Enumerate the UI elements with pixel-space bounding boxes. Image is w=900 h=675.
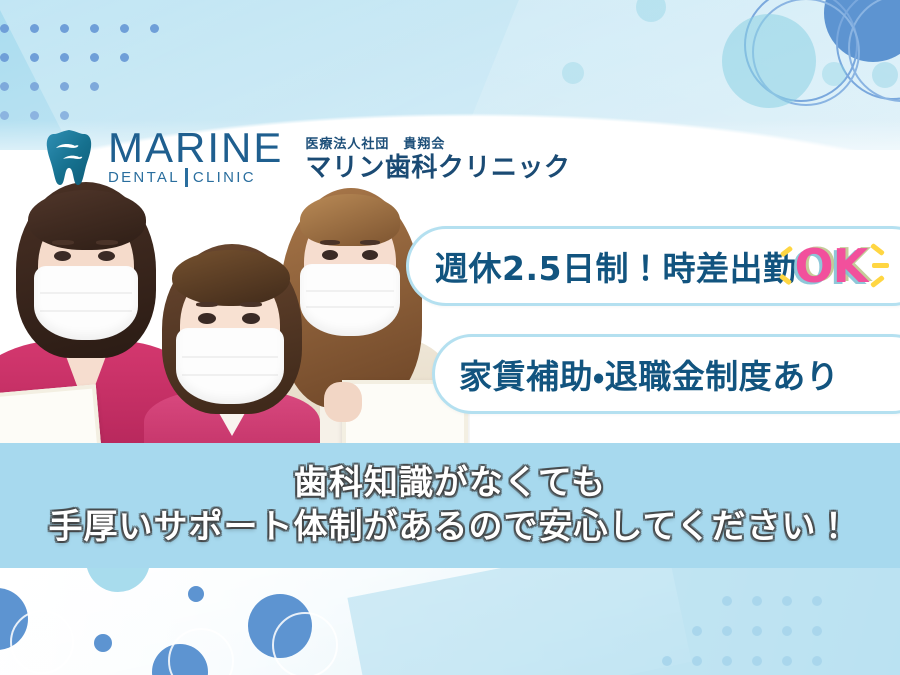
banner-line-1: 歯科知識がなくても bbox=[294, 462, 606, 506]
staff-left-face-mask bbox=[34, 266, 138, 340]
staff-center-face-mask bbox=[176, 328, 284, 404]
dot-grid-bottom-right bbox=[722, 588, 900, 675]
badge-benefits[interactable]: 家賃補助・退職金制度あり bbox=[432, 334, 900, 414]
logo-corporation: 医療法人社団 貴翔会 bbox=[305, 133, 570, 152]
message-banner: 歯科知識がなくても 手厚いサポート体制があるので安心してください！ bbox=[0, 443, 900, 568]
staff-member-center bbox=[146, 242, 316, 450]
staff-left-clipboard bbox=[0, 384, 104, 450]
logo-brand-sub-left: DENTAL bbox=[108, 170, 180, 185]
recruitment-poster: MARINE DENTAL CLINIC 医療法人社団 貴翔会 マリン歯科クリニ… bbox=[0, 0, 900, 675]
staff-photo bbox=[0, 150, 470, 450]
logo-japanese-block: 医療法人社団 貴翔会 マリン歯科クリニック bbox=[305, 129, 570, 181]
staff-right-hand bbox=[324, 382, 362, 422]
logo-brand-main: MARINE bbox=[108, 129, 283, 168]
ok-spark-right-top bbox=[870, 243, 885, 256]
decorative-dot-bottom-center-small bbox=[188, 586, 204, 602]
logo-latin-block: MARINE DENTAL CLINIC bbox=[108, 129, 283, 188]
staff-center-hair-front bbox=[172, 250, 290, 306]
logo-clinic-name: マリン歯科クリニック bbox=[305, 155, 570, 181]
ok-spark-right-bot bbox=[870, 275, 885, 288]
decorative-ring-bottom-mid bbox=[272, 612, 338, 675]
ok-stamp: OK bbox=[794, 243, 867, 289]
ok-label: OK bbox=[794, 243, 867, 289]
bottom-decoration-field bbox=[0, 568, 900, 675]
badge-shift[interactable]: 週休2.5日制！時差出勤 OK bbox=[406, 226, 900, 306]
staff-left-hair-front bbox=[28, 190, 146, 250]
logo-divider bbox=[185, 168, 188, 187]
decorative-dot-bottom-left bbox=[94, 634, 112, 652]
badge-benefits-text: 家賃補助・退職金制度あり bbox=[435, 350, 839, 398]
decorative-ring-bottom-left bbox=[10, 610, 74, 674]
banner-line-2: 手厚いサポート体制があるので安心してください！ bbox=[49, 506, 852, 550]
logo-wordmark: MARINE DENTAL CLINIC 医療法人社団 貴翔会 マリン歯科クリニ… bbox=[108, 129, 570, 188]
clinic-logo: MARINE DENTAL CLINIC 医療法人社団 貴翔会 マリン歯科クリニ… bbox=[46, 128, 570, 188]
logo-sub-row: DENTAL CLINIC bbox=[108, 168, 283, 187]
ok-spark-right-mid bbox=[872, 263, 889, 268]
logo-brand-sub-right: CLINIC bbox=[193, 170, 256, 185]
tooth-with-dolphins-icon bbox=[46, 128, 98, 188]
staff-right-hair-front bbox=[300, 194, 400, 246]
badge-shift-text: 週休2.5日制！時差出勤 bbox=[409, 242, 796, 290]
